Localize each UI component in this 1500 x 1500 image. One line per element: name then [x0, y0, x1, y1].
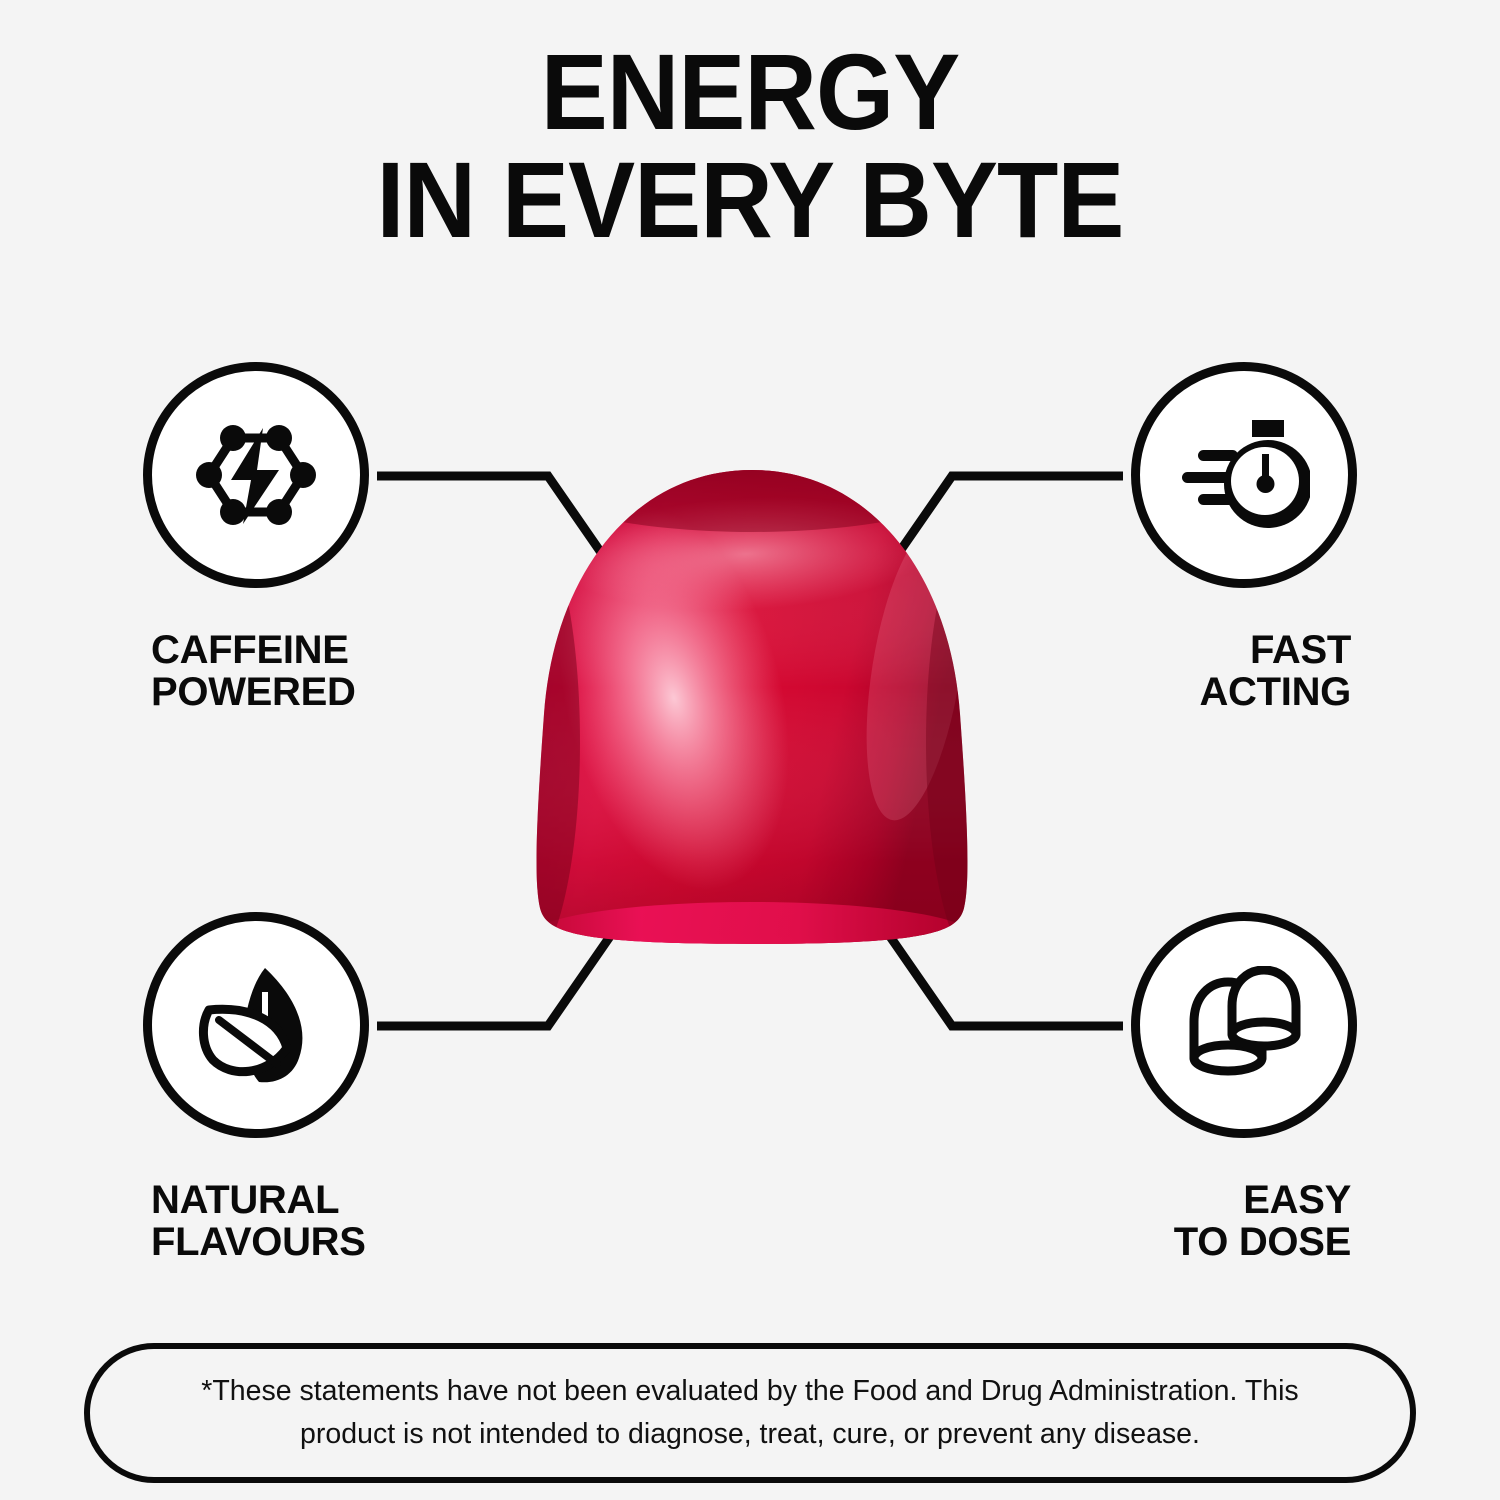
feature-icon-circle[interactable] — [143, 912, 369, 1138]
headline-line-1: ENERGY — [53, 40, 1448, 144]
feature-easy-to-dose[interactable]: EASY TO DOSE — [1131, 912, 1357, 1263]
feature-icon-circle[interactable] — [1131, 362, 1357, 588]
disclaimer-text: *These statements have not been evaluate… — [150, 1370, 1350, 1456]
feature-label: NATURAL FLAVOURS — [143, 1180, 369, 1263]
disclaimer-box: *These statements have not been evaluate… — [84, 1343, 1416, 1483]
feature-fast-acting[interactable]: FAST ACTING — [1131, 362, 1357, 713]
feature-caffeine-powered[interactable]: CAFFEINE POWERED — [143, 362, 369, 713]
product-infographic: ENERGY IN EVERY BYTE — [0, 0, 1500, 1500]
gummy-front-base — [1232, 1022, 1296, 1046]
feature-natural-flavours[interactable]: NATURAL FLAVOURS — [143, 912, 369, 1263]
feature-label: EASY TO DOSE — [1131, 1180, 1357, 1263]
headline-line-2: IN EVERY BYTE — [53, 148, 1448, 252]
caffeine-molecule-bolt-icon — [193, 412, 319, 538]
feature-icon-circle[interactable] — [143, 362, 369, 588]
leaves-icon — [193, 962, 319, 1088]
feature-icon-circle[interactable] — [1131, 912, 1357, 1138]
gummy-product-image — [478, 462, 1026, 962]
stopwatch-speed-icon — [1178, 412, 1310, 538]
two-gummies-icon — [1180, 966, 1308, 1084]
feature-label: CAFFEINE POWERED — [143, 630, 369, 713]
page-title: ENERGY IN EVERY BYTE — [0, 40, 1500, 251]
feature-label: FAST ACTING — [1131, 630, 1357, 713]
